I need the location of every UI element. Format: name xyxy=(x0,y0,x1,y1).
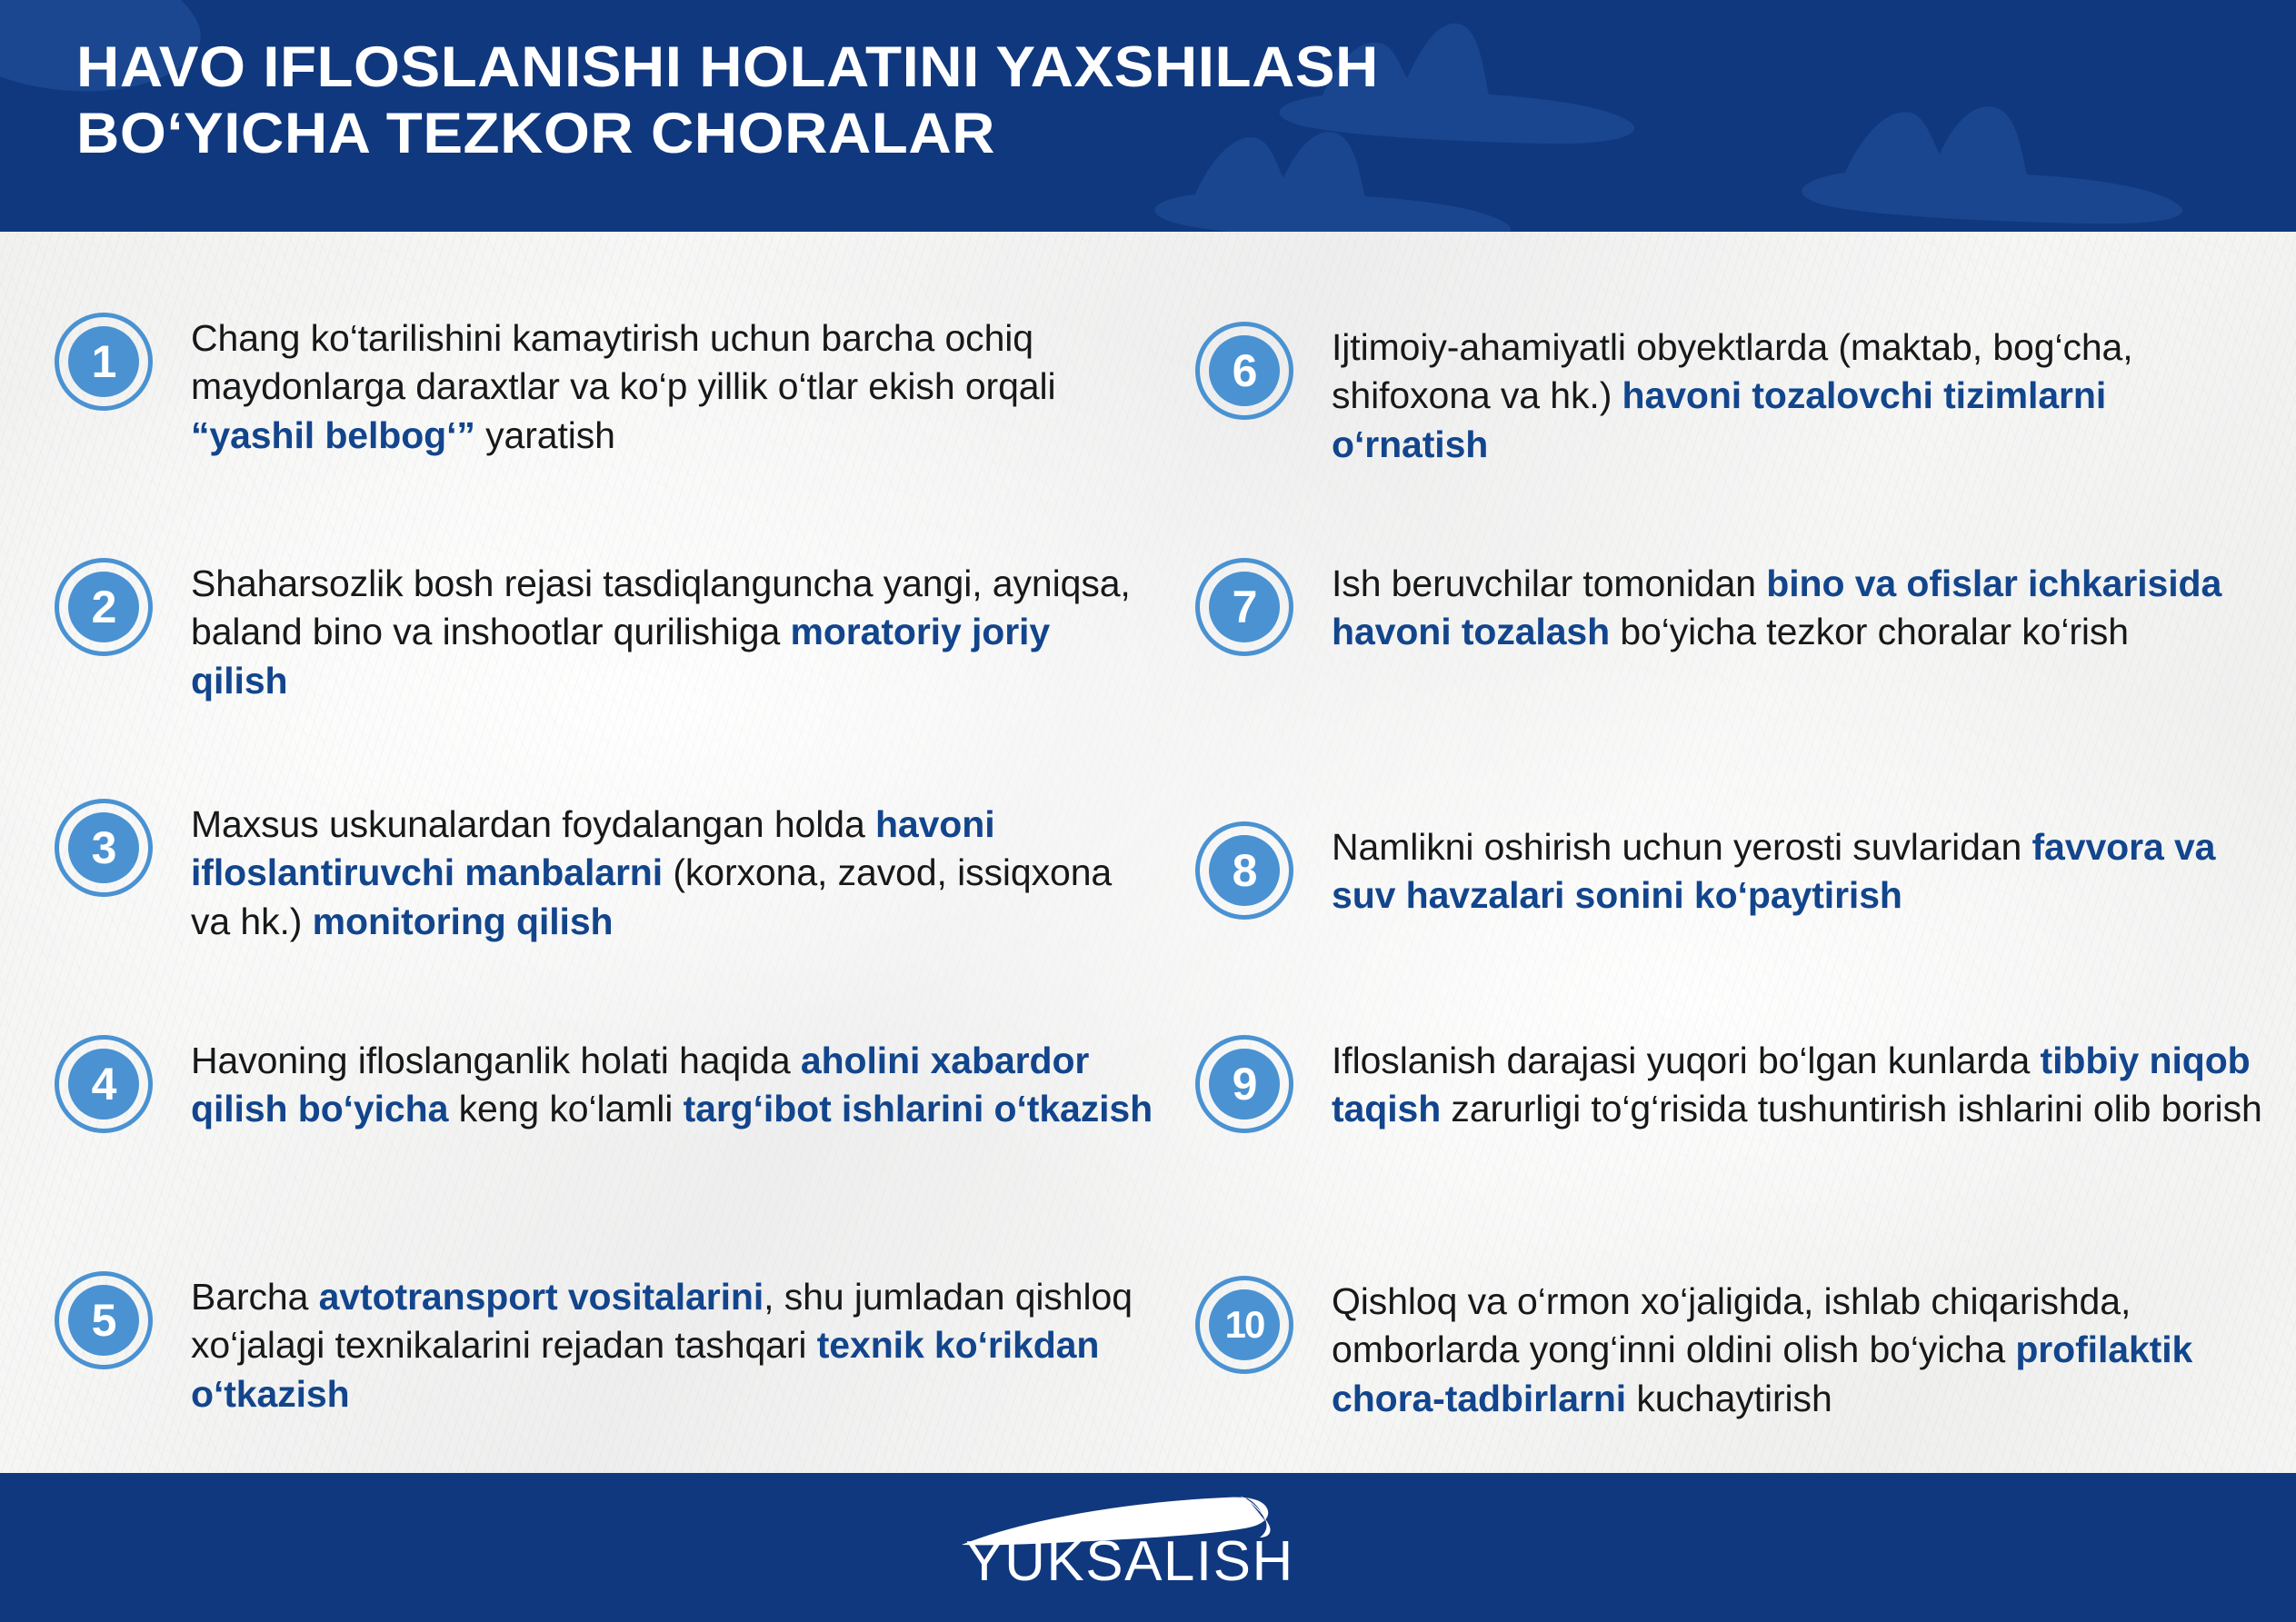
number-badge-5: 5 xyxy=(55,1271,153,1369)
measure-text-9: Ifloslanish darajasi yuqori bo‘lgan kunl… xyxy=(1332,1031,2268,1134)
badge-number-label: 7 xyxy=(1195,558,1293,656)
body-text: keng ko‘lamli xyxy=(448,1088,683,1129)
number-badge-10: 10 xyxy=(1195,1276,1293,1374)
page-footer: YUKSALISH xyxy=(0,1473,2296,1622)
body-text: kuchaytirish xyxy=(1626,1378,1832,1419)
number-badge-1: 1 xyxy=(55,313,153,411)
body-text: zarurligi to‘g‘risida tushuntirish ishla… xyxy=(1441,1088,2262,1129)
body-text: Havoning ifloslanganlik holati haqida xyxy=(191,1040,801,1081)
highlight-text: targ‘ibot ishlarini o‘tkazish xyxy=(684,1088,1153,1129)
number-badge-7: 7 xyxy=(1195,558,1293,656)
measure-item-1: 1 Chang ko‘tarilishini kamaytirish uchun… xyxy=(55,309,1154,460)
badge-number-label: 6 xyxy=(1195,322,1293,420)
measure-item-9: 9 Ifloslanish darajasi yuqori bo‘lgan ku… xyxy=(1195,1031,2268,1134)
body-text: Barcha xyxy=(191,1276,319,1318)
measure-item-10: 10 Qishloq va o‘rmon xo‘jaligida, ishlab… xyxy=(1195,1272,2268,1423)
highlight-text: monitoring qilish xyxy=(313,901,614,942)
measure-text-4: Havoning ifloslanganlik holati haqida ah… xyxy=(191,1031,1154,1134)
body-text: Namlikni oshirish uchun yerosti suvlarid… xyxy=(1332,826,2031,868)
highlight-text: avtotransport vositalarini xyxy=(319,1276,764,1318)
logo-wordmark: YUKSALISH xyxy=(953,1534,1307,1590)
number-badge-4: 4 xyxy=(55,1035,153,1133)
body-text: Chang ko‘tarilishini kamaytirish uchun b… xyxy=(191,317,1056,407)
page-header: HAVO IFLOSLANISHI HOLATINI YAXSHILASH BO… xyxy=(0,0,2296,232)
measure-text-8: Namlikni oshirish uchun yerosti suvlarid… xyxy=(1332,818,2268,920)
measure-item-4: 4 Havoning ifloslanganlik holati haqida … xyxy=(55,1031,1154,1134)
highlight-text: “yashil belbog‘” xyxy=(191,414,475,456)
body-text: Qishloq va o‘rmon xo‘jaligida, ishlab ch… xyxy=(1332,1280,2131,1370)
badge-number-label: 5 xyxy=(55,1271,153,1369)
measure-item-3: 3 Maxsus uskunalardan foydalangan holda … xyxy=(55,795,1154,946)
body-text: Maxsus uskunalardan foydalangan holda xyxy=(191,803,875,845)
measure-text-10: Qishloq va o‘rmon xo‘jaligida, ishlab ch… xyxy=(1332,1272,2268,1423)
measure-text-6: Ijtimoiy-ahamiyatli obyektlarda (maktab,… xyxy=(1332,318,2268,469)
measure-text-1: Chang ko‘tarilishini kamaytirish uchun b… xyxy=(191,309,1154,460)
badge-number-label: 10 xyxy=(1195,1276,1293,1374)
number-badge-8: 8 xyxy=(1195,821,1293,920)
badge-number-label: 8 xyxy=(1195,821,1293,920)
badge-number-label: 3 xyxy=(55,799,153,897)
badge-number-label: 2 xyxy=(55,558,153,656)
measure-text-5: Barcha avtotransport vositalarini, shu j… xyxy=(191,1268,1154,1418)
number-badge-3: 3 xyxy=(55,799,153,897)
number-badge-6: 6 xyxy=(1195,322,1293,420)
content-canvas: 1 Chang ko‘tarilishini kamaytirish uchun… xyxy=(0,232,2296,1473)
yuksalish-logo[interactable]: YUKSALISH xyxy=(953,1494,1343,1601)
measure-item-5: 5 Barcha avtotransport vositalarini, shu… xyxy=(55,1268,1154,1418)
number-badge-9: 9 xyxy=(1195,1035,1293,1133)
body-text: bo‘yicha tezkor choralar ko‘rish xyxy=(1610,611,2129,652)
badge-number-label: 4 xyxy=(55,1035,153,1133)
measure-item-2: 2 Shaharsozlik bosh rejasi tasdiqlangunc… xyxy=(55,554,1154,705)
body-text: yaratish xyxy=(475,414,615,456)
measure-text-3: Maxsus uskunalardan foydalangan holda ha… xyxy=(191,795,1154,946)
badge-number-label: 1 xyxy=(55,313,153,411)
measure-item-7: 7 Ish beruvchilar tomonidan bino va ofis… xyxy=(1195,554,2268,657)
number-badge-2: 2 xyxy=(55,558,153,656)
measure-item-8: 8 Namlikni oshirish uchun yerosti suvlar… xyxy=(1195,818,2268,920)
body-text: Ish beruvchilar tomonidan xyxy=(1332,562,1766,604)
measure-text-7: Ish beruvchilar tomonidan bino va ofisla… xyxy=(1332,554,2268,657)
measure-item-6: 6 Ijtimoiy-ahamiyatli obyektlarda (makta… xyxy=(1195,318,2268,469)
measure-text-2: Shaharsozlik bosh rejasi tasdiqlanguncha… xyxy=(191,554,1154,705)
body-text: Ifloslanish darajasi yuqori bo‘lgan kunl… xyxy=(1332,1040,2041,1081)
page-title: HAVO IFLOSLANISHI HOLATINI YAXSHILASH BO… xyxy=(76,35,1967,167)
badge-number-label: 9 xyxy=(1195,1035,1293,1133)
